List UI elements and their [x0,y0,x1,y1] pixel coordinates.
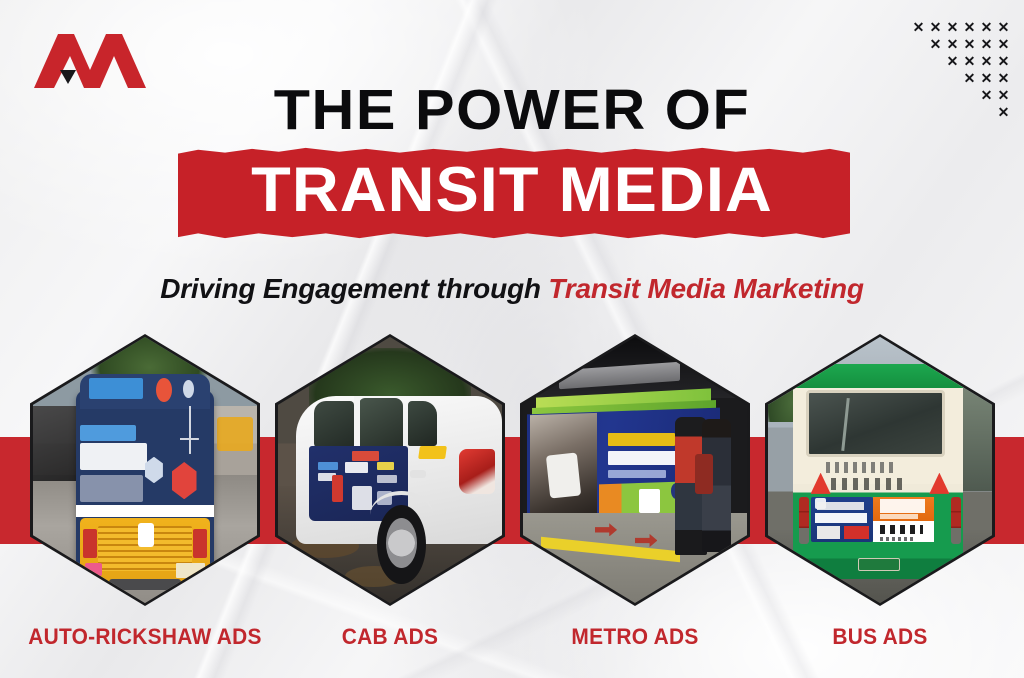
headline-banner-wrap: TRANSIT MEDIA [0,145,1024,243]
x-icon: ✕ [946,20,959,35]
hexagon-photo-clip [278,337,502,603]
headline-line-1: THE POWER OF [0,82,1024,139]
x-icon: ✕ [997,20,1010,35]
bus-photo [768,337,992,603]
cab-photo [278,337,502,603]
card-bus[interactable] [765,334,995,606]
hexagon-frame [520,334,750,606]
headline-block: THE POWER OF TRANSIT MEDIA [0,82,1024,243]
hexagon-photo-clip [33,337,257,603]
label-metro-ads: METRO ADS [516,624,754,650]
x-icon: ✕ [929,37,942,52]
x-icon: ✕ [963,20,976,35]
hexagon-photo-clip [523,337,747,603]
hexagon-frame [765,334,995,606]
hexagon-frame [30,334,260,606]
subtitle-plain: Driving Engagement through [160,273,548,304]
subtitle-accent: Transit Media Marketing [548,273,863,304]
x-icon: ✕ [997,54,1010,69]
card-auto-rickshaw[interactable] [30,334,260,606]
x-icon: ✕ [946,37,959,52]
x-icon: ✕ [963,37,976,52]
x-icon: ✕ [963,54,976,69]
x-row: ✕ ✕ ✕ ✕ [946,54,1010,69]
hexagon-photo-clip [768,337,992,603]
x-icon: ✕ [946,54,959,69]
x-icon: ✕ [912,20,925,35]
x-row: ✕ ✕ ✕ ✕ ✕ ✕ [912,20,1010,35]
hexagon-card-row [0,334,1024,606]
x-icon: ✕ [980,20,993,35]
hexagon-frame [275,334,505,606]
x-icon: ✕ [980,37,993,52]
metro-photo [523,337,747,603]
auto-rickshaw-photo [33,337,257,603]
subtitle: Driving Engagement through Transit Media… [0,273,1024,305]
label-auto-rickshaw-ads: AUTO-RICKSHAW ADS [7,624,283,650]
headline-line-2: TRANSIT MEDIA [0,159,1024,222]
x-icon: ✕ [997,37,1010,52]
x-row: ✕ ✕ ✕ ✕ ✕ [929,37,1010,52]
x-icon: ✕ [980,54,993,69]
label-cab-ads: CAB ADS [271,624,509,650]
card-metro[interactable] [520,334,750,606]
card-cab[interactable] [275,334,505,606]
x-icon: ✕ [929,20,942,35]
label-bus-ads: BUS ADS [761,624,999,650]
